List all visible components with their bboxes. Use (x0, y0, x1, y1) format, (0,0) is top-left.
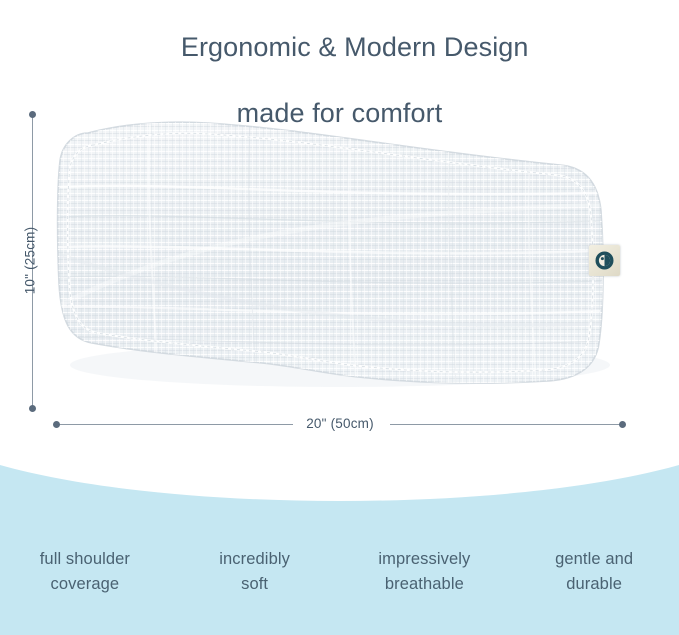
feature-item-2: incredibly soft (170, 547, 340, 597)
feature-item-1: full shoulder coverage (0, 547, 170, 597)
width-dimension-line-left (57, 424, 293, 425)
height-dimension-dot-bottom (29, 405, 36, 412)
height-dimension-dot-top (29, 111, 36, 118)
features-list: full shoulder coverage incredibly soft i… (0, 547, 679, 597)
width-dimension-line-right (390, 424, 622, 425)
infographic-page: Ergonomic & Modern Design made for comfo… (0, 0, 679, 635)
product-photo (0, 95, 679, 415)
height-dimension-label: 10" (25cm) (23, 206, 38, 316)
brand-logo-icon (594, 250, 615, 271)
page-title-line-1: Ergonomic & Modern Design (181, 32, 529, 62)
width-dimension-dot-left (53, 421, 60, 428)
width-dimension-dot-right (619, 421, 626, 428)
feature-item-3: impressively breathable (340, 547, 510, 597)
band-curved-shape (0, 455, 679, 635)
features-band: full shoulder coverage incredibly soft i… (0, 455, 679, 635)
feature-item-4: gentle and durable (509, 547, 679, 597)
brand-tag (589, 245, 620, 276)
burp-cloth-illustration (0, 95, 679, 415)
width-dimension-label: 20" (50cm) (289, 416, 391, 431)
